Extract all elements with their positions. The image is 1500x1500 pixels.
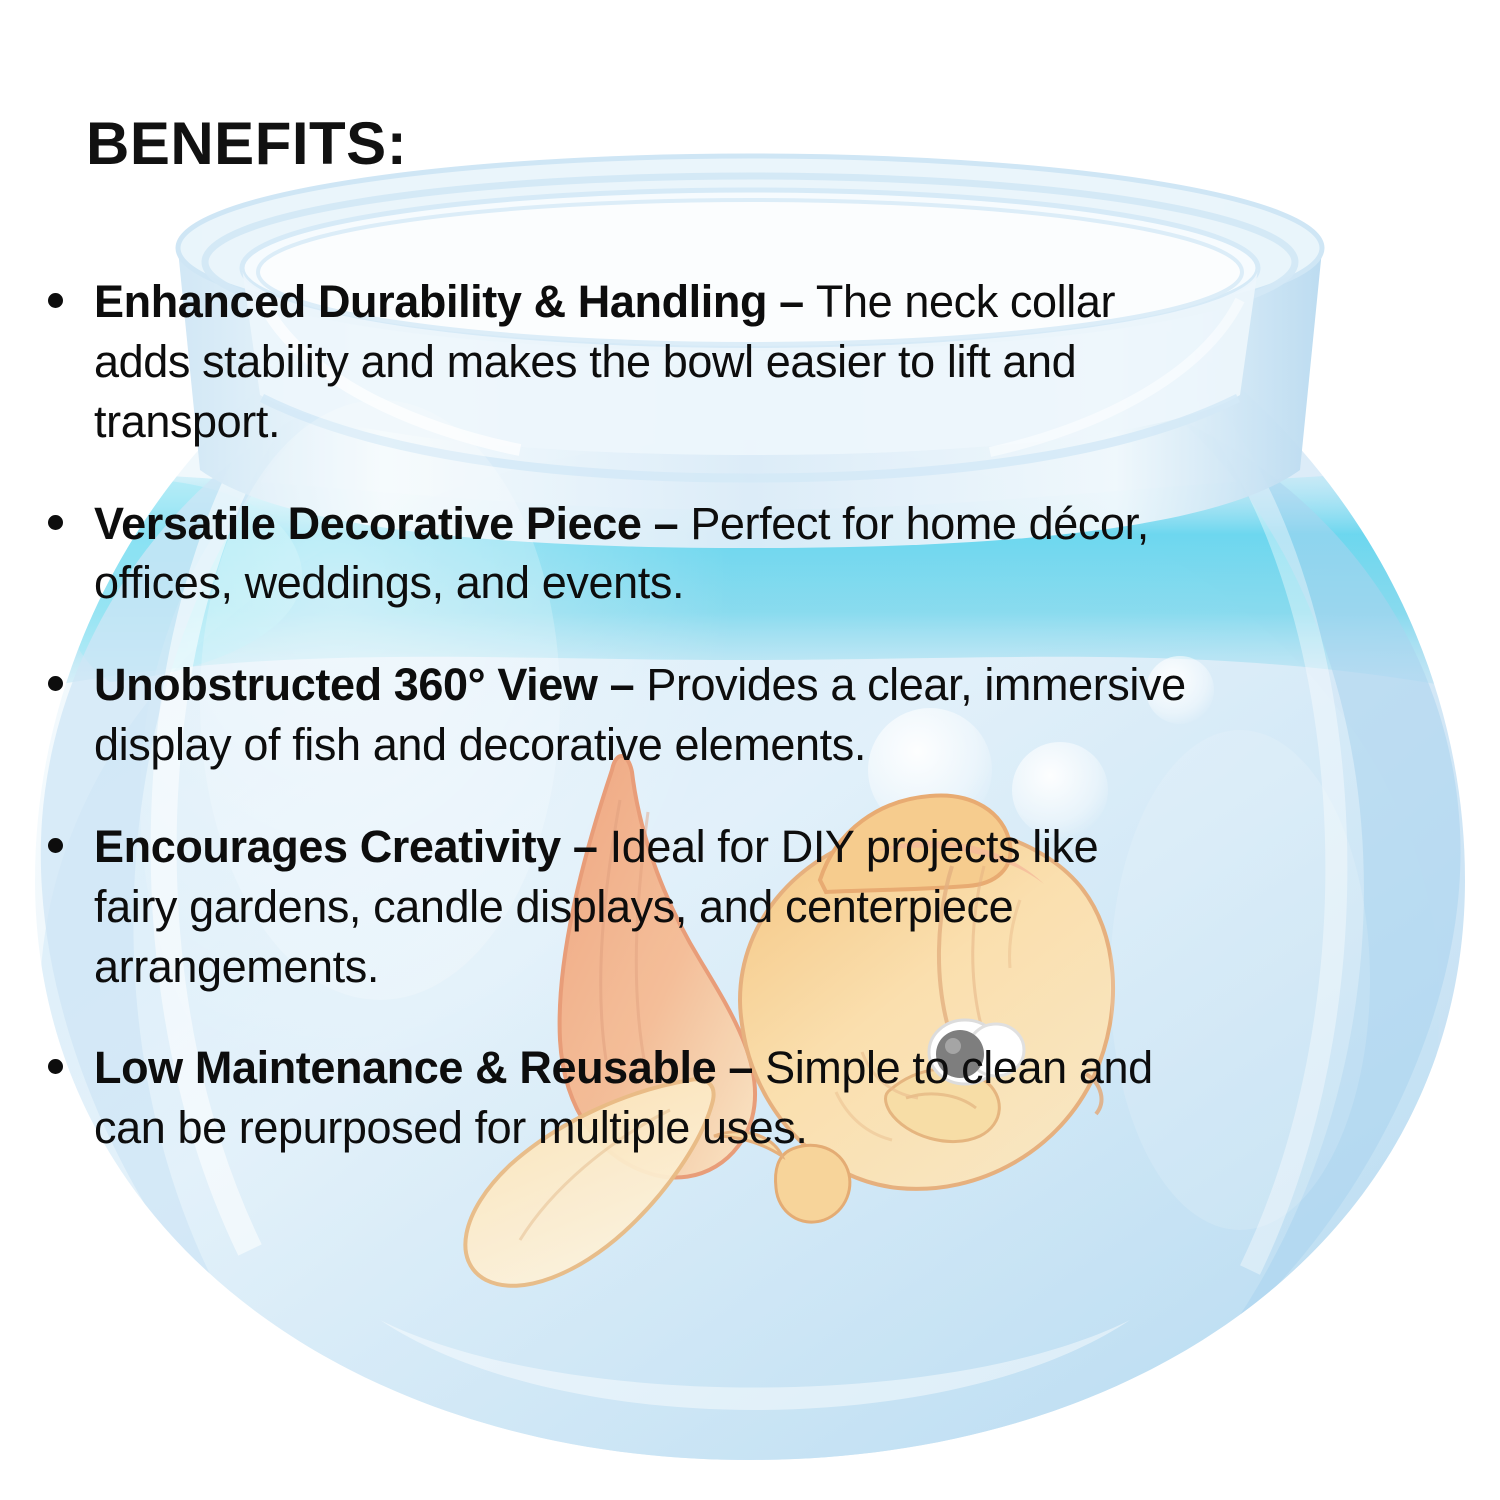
benefit-body: display of fish and decorative elements.: [94, 719, 866, 770]
benefit-title: Unobstructed 360° View: [94, 659, 598, 710]
benefit-text-line: Enhanced Durability & Handling – The nec…: [94, 272, 1500, 332]
benefit-title: Versatile Decorative Piece: [94, 498, 641, 549]
benefit-body: Perfect for home décor,: [690, 498, 1149, 549]
benefit-list-item: Low Maintenance & Reusable – Simple to c…: [36, 1038, 1500, 1158]
benefit-text-line: arrangements.: [94, 937, 1500, 997]
benefit-body: fairy gardens, candle displays, and cent…: [94, 881, 1013, 932]
benefit-text-line: Unobstructed 360° View – Provides a clea…: [94, 655, 1500, 715]
benefit-body: The neck collar: [816, 276, 1115, 327]
benefit-text-line: Versatile Decorative Piece – Perfect for…: [94, 494, 1500, 554]
benefit-body: arrangements.: [94, 941, 379, 992]
benefits-page: BENEFITS: Enhanced Durability & Handling…: [0, 0, 1500, 1500]
benefit-text-line: fairy gardens, candle displays, and cent…: [94, 877, 1500, 937]
benefits-list: Enhanced Durability & Handling – The nec…: [36, 272, 1500, 1200]
benefit-title: Low Maintenance & Reusable: [94, 1042, 716, 1093]
benefit-list-item: Enhanced Durability & Handling – The nec…: [36, 272, 1500, 452]
benefit-text: Low Maintenance & Reusable – Simple to c…: [94, 1038, 1500, 1158]
benefit-text-line: can be repurposed for multiple uses.: [94, 1098, 1500, 1158]
benefit-body: offices, weddings, and events.: [94, 557, 684, 608]
benefit-dash: –: [716, 1042, 765, 1093]
bullet-dot-icon: [48, 676, 63, 691]
benefit-text-line: Low Maintenance & Reusable – Simple to c…: [94, 1038, 1500, 1098]
benefit-dash: –: [767, 276, 816, 327]
benefit-text: Encourages Creativity – Ideal for DIY pr…: [94, 817, 1500, 997]
benefit-dash: –: [641, 498, 690, 549]
benefit-dash: –: [561, 821, 610, 872]
benefit-dash: –: [598, 659, 647, 710]
benefit-body: adds stability and makes the bowl easier…: [94, 336, 1076, 387]
benefit-text: Enhanced Durability & Handling – The nec…: [94, 272, 1500, 452]
benefit-body: Ideal for DIY projects like: [610, 821, 1099, 872]
page-title: BENEFITS:: [86, 112, 407, 175]
benefit-body: transport.: [94, 396, 280, 447]
bullet-dot-icon: [48, 515, 63, 530]
benefit-text: Unobstructed 360° View – Provides a clea…: [94, 655, 1500, 775]
benefit-list-item: Encourages Creativity – Ideal for DIY pr…: [36, 817, 1500, 997]
benefit-title: Encourages Creativity: [94, 821, 561, 872]
benefit-text-line: adds stability and makes the bowl easier…: [94, 332, 1500, 392]
bullet-dot-icon: [48, 293, 63, 308]
benefit-text: Versatile Decorative Piece – Perfect for…: [94, 494, 1500, 614]
benefit-text-line: display of fish and decorative elements.: [94, 715, 1500, 775]
benefit-body: can be repurposed for multiple uses.: [94, 1102, 808, 1153]
bullet-dot-icon: [48, 838, 63, 853]
benefit-text-line: offices, weddings, and events.: [94, 553, 1500, 613]
bullet-dot-icon: [48, 1059, 63, 1074]
benefit-list-item: Unobstructed 360° View – Provides a clea…: [36, 655, 1500, 775]
benefit-body: Simple to clean and: [765, 1042, 1153, 1093]
benefits-content: BENEFITS: Enhanced Durability & Handling…: [0, 0, 1500, 1500]
benefit-body: Provides a clear, immersive: [646, 659, 1185, 710]
benefit-text-line: Encourages Creativity – Ideal for DIY pr…: [94, 817, 1500, 877]
benefit-title: Enhanced Durability & Handling: [94, 276, 767, 327]
benefit-text-line: transport.: [94, 392, 1500, 452]
benefit-list-item: Versatile Decorative Piece – Perfect for…: [36, 494, 1500, 614]
